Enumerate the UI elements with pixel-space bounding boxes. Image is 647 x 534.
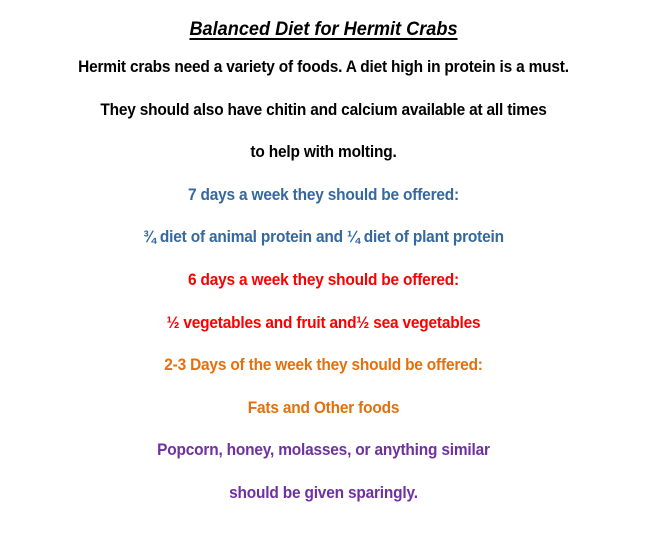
diet-document: Balanced Diet for Hermit Crabs Hermit cr… xyxy=(0,0,647,534)
page-title: Balanced Diet for Hermit Crabs xyxy=(189,18,457,40)
blue-section-detail: ¾ diet of animal protein and ¼ diet of p… xyxy=(23,216,625,259)
intro-line-2: They should also have chitin and calcium… xyxy=(23,89,625,132)
red-section-detail: ½ vegetables and fruit and½ sea vegetabl… xyxy=(23,302,625,345)
intro-line-1: Hermit crabs need a variety of foods. A … xyxy=(23,46,625,89)
red-section-heading: 6 days a week they should be offered: xyxy=(23,259,625,302)
orange-section-detail: Fats and Other foods xyxy=(23,387,625,430)
document-title-line: Balanced Diet for Hermit Crabs xyxy=(23,0,625,46)
blue-section-heading: 7 days a week they should be offered: xyxy=(23,174,625,217)
intro-line-3: to help with molting. xyxy=(23,131,625,174)
orange-section-heading: 2-3 Days of the week they should be offe… xyxy=(23,344,625,387)
purple-section-line-1: Popcorn, honey, molasses, or anything si… xyxy=(23,429,625,472)
purple-section-line-2: should be given sparingly. xyxy=(23,472,625,515)
